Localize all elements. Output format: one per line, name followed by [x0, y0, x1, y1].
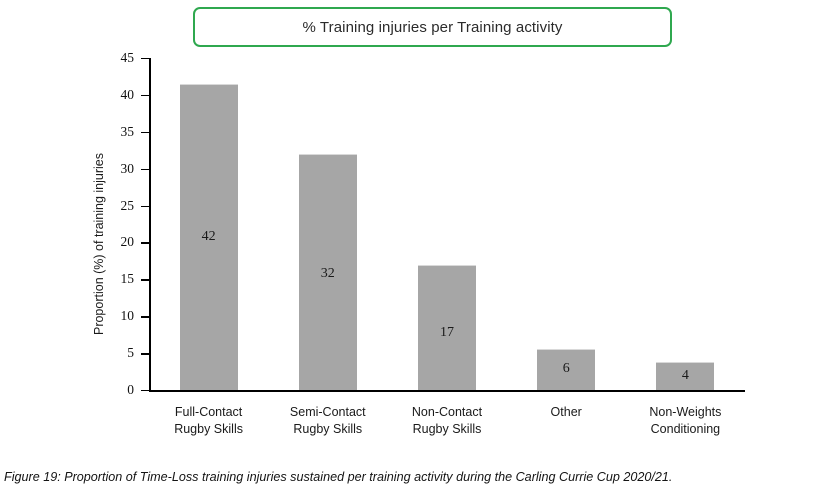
- y-axis-tick-label: 5: [94, 345, 134, 361]
- category-label-line: Rugby Skills: [149, 421, 268, 438]
- y-axis-tick-label: 30: [94, 161, 134, 177]
- category-label-line: Full-Contact: [149, 404, 268, 421]
- bar: 6: [537, 349, 595, 390]
- category-label-line: Conditioning: [626, 421, 745, 438]
- y-axis-tick-label: 15: [94, 271, 134, 287]
- x-axis-category-label: Non-WeightsConditioning: [626, 404, 745, 438]
- y-axis-tick: [141, 390, 150, 391]
- y-axis-tick-label: 45: [94, 50, 134, 66]
- y-axis-tick: [141, 316, 150, 317]
- x-axis-category-label: Other: [507, 404, 626, 421]
- category-label-line: Non-Weights: [626, 404, 745, 421]
- y-axis-tick: [141, 58, 150, 59]
- y-axis-tick-label: 40: [94, 87, 134, 103]
- bar: 17: [418, 265, 476, 390]
- y-axis-tick-label: 35: [94, 124, 134, 140]
- bar-value-label: 17: [418, 325, 476, 341]
- x-axis-category-label: Full-ContactRugby Skills: [149, 404, 268, 438]
- y-axis-line: [149, 58, 151, 391]
- y-axis-tick-label: 25: [94, 198, 134, 214]
- chart-plot-area: Proportion (%) of training injuries 0510…: [0, 0, 833, 455]
- bar-value-label: 4: [656, 368, 714, 384]
- category-label-line: Semi-Contact: [268, 404, 387, 421]
- category-label-line: Rugby Skills: [268, 421, 387, 438]
- x-axis-line: [149, 390, 745, 392]
- x-axis-category-label: Semi-ContactRugby Skills: [268, 404, 387, 438]
- y-axis-tick: [141, 353, 150, 354]
- category-label-line: Rugby Skills: [387, 421, 506, 438]
- y-axis-tick: [141, 132, 150, 133]
- category-label-line: Other: [507, 404, 626, 421]
- y-axis-tick: [141, 206, 150, 207]
- y-axis-tick: [141, 242, 150, 243]
- y-axis-tick-label: 20: [94, 234, 134, 250]
- bar-value-label: 32: [299, 266, 357, 282]
- y-axis-tick: [141, 95, 150, 96]
- category-label-line: Non-Contact: [387, 404, 506, 421]
- bar: 32: [299, 154, 357, 390]
- x-axis-category-label: Non-ContactRugby Skills: [387, 404, 506, 438]
- bar: 42: [180, 84, 238, 390]
- bar-value-label: 42: [180, 229, 238, 245]
- bar-value-label: 6: [537, 361, 595, 377]
- y-axis-tick-label: 10: [94, 308, 134, 324]
- y-axis-tick-label: 0: [94, 382, 134, 398]
- y-axis-tick: [141, 169, 150, 170]
- y-axis-tick: [141, 279, 150, 280]
- figure-caption: Figure 19: Proportion of Time-Loss train…: [4, 470, 832, 484]
- bar: 4: [656, 362, 714, 390]
